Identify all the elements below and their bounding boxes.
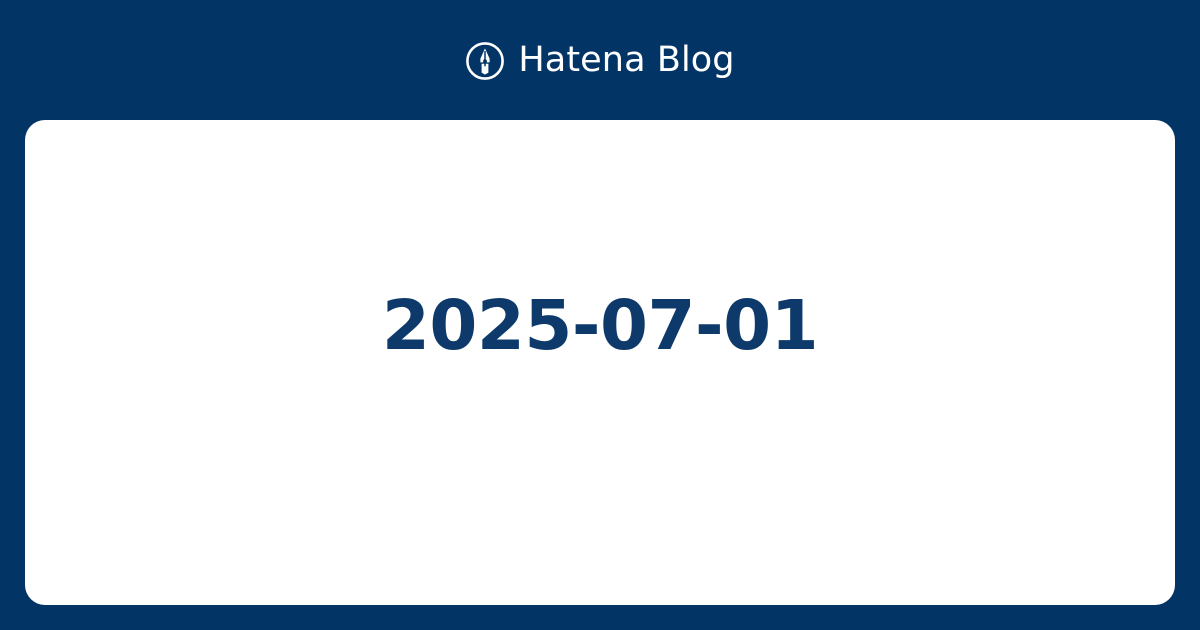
- brand-header: Hatena Blog: [0, 0, 1200, 120]
- entry-card: 2025-07-01 いつもの道で: [25, 120, 1175, 605]
- fountain-pen-nib-circle-icon: [465, 41, 505, 81]
- brand-wordmark: Hatena Blog: [518, 40, 734, 80]
- entry-title: 2025-07-01: [25, 286, 1175, 366]
- hatena-blog-ogp-card: Hatena Blog 2025-07-01 いつもの道で: [0, 0, 1200, 630]
